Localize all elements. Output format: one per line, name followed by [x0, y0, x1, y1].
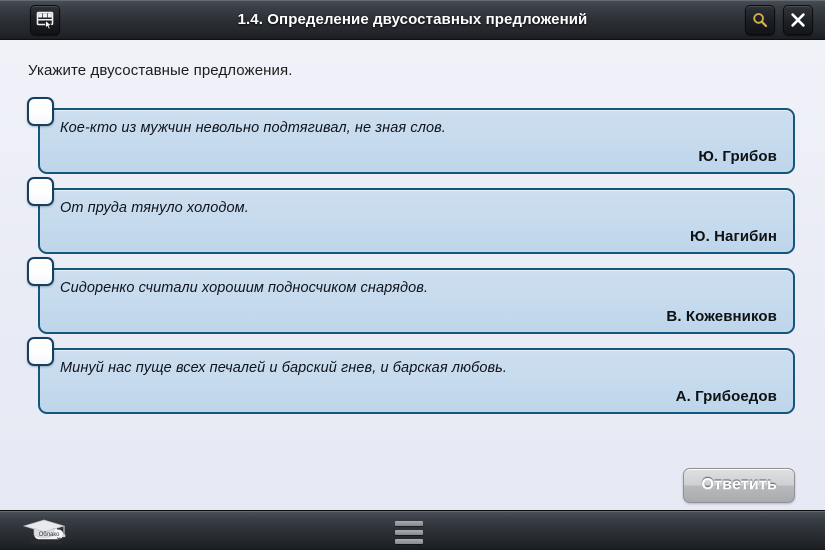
- content-area: Укажите двусоставные предложения. Кое-кт…: [0, 40, 825, 510]
- option-row[interactable]: От пруда тянуло холодом. Ю. Нагибин: [38, 188, 795, 254]
- option-checkbox[interactable]: [27, 177, 54, 206]
- option-checkbox[interactable]: [27, 257, 54, 286]
- option-sentence: От пруда тянуло холодом.: [60, 200, 779, 216]
- window-title: 1.4. Определение двусоставных предложени…: [90, 0, 735, 40]
- option-checkbox[interactable]: [27, 337, 54, 366]
- answer-button[interactable]: Ответить: [683, 468, 795, 503]
- graduation-cap-cloud-logo: Облако знаний: [24, 520, 66, 547]
- option-sentence: Кое-кто из мужчин невольно подтягивал, н…: [60, 120, 779, 136]
- hamburger-menu-icon: [395, 539, 423, 544]
- option-author: А. Грибоедов: [676, 388, 777, 405]
- bottom-bar: Облако знаний: [0, 510, 825, 550]
- oblako-znaniy-logo[interactable]: Облако знаний: [16, 516, 82, 550]
- hamburger-menu-icon: [395, 530, 423, 535]
- option-row[interactable]: Сидоренко считали хорошим подносчиком сн…: [38, 268, 795, 334]
- hamburger-menu-icon: [395, 521, 423, 526]
- close-icon: [789, 11, 807, 29]
- question-prompt: Укажите двусоставные предложения.: [28, 62, 293, 79]
- close-button[interactable]: [783, 5, 813, 35]
- option-sentence: Сидоренко считали хорошим подносчиком сн…: [60, 280, 779, 296]
- option-author: Ю. Грибов: [698, 148, 777, 165]
- option-row[interactable]: Минуй нас пуще всех печалей и барский гн…: [38, 348, 795, 414]
- app-window: 1.4. Определение двусоставных предложени…: [0, 0, 825, 550]
- table-grid-cursor-button[interactable]: [30, 5, 60, 35]
- option-sentence: Минуй нас пуще всех печалей и барский гн…: [60, 360, 779, 376]
- option-author: В. Кожевников: [666, 308, 777, 325]
- option-checkbox[interactable]: [27, 97, 54, 126]
- option-author: Ю. Нагибин: [690, 228, 777, 245]
- hamburger-menu-button[interactable]: [386, 519, 432, 545]
- table-grid-cursor-icon: [35, 10, 55, 30]
- search-button[interactable]: [745, 5, 775, 35]
- options-list: Кое-кто из мужчин невольно подтягивал, н…: [38, 108, 795, 428]
- option-row[interactable]: Кое-кто из мужчин невольно подтягивал, н…: [38, 108, 795, 174]
- title-bar: 1.4. Определение двусоставных предложени…: [0, 0, 825, 40]
- svg-text:знаний: знаний: [30, 537, 61, 547]
- search-icon: [751, 11, 769, 29]
